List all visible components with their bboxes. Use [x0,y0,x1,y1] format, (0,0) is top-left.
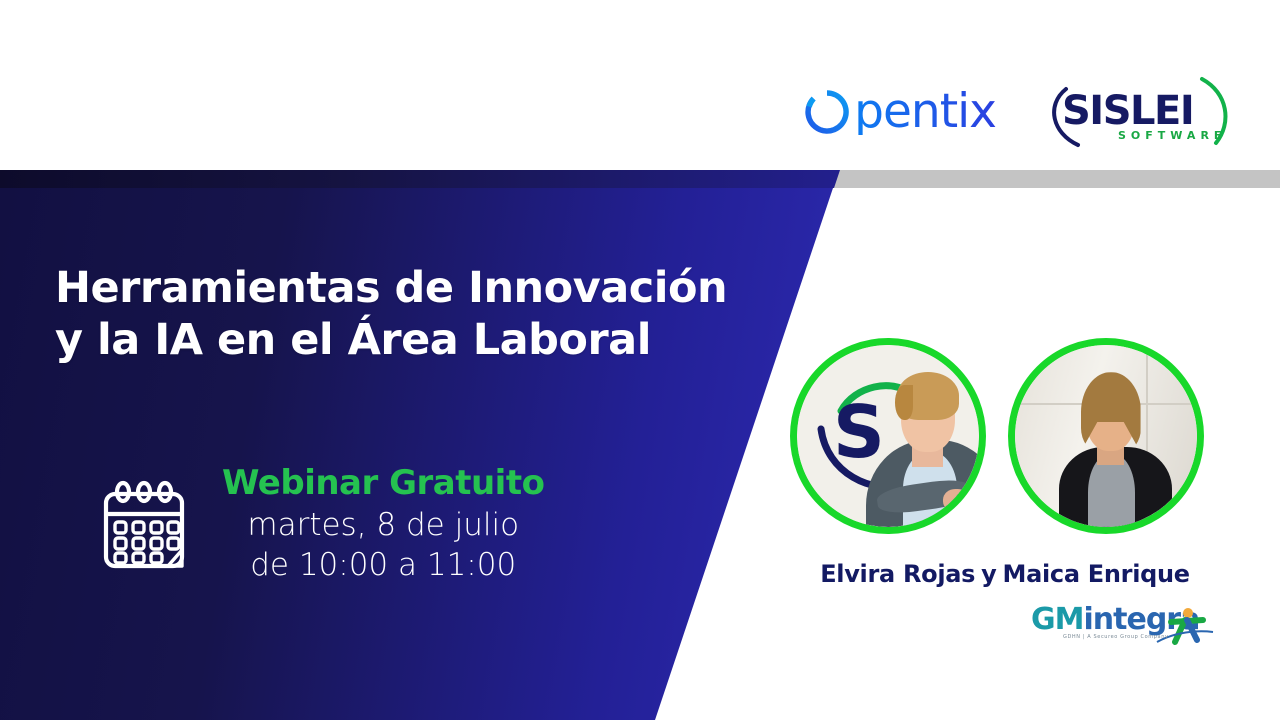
top-accent-banner [0,0,900,53]
opentix-circle-icon [804,89,850,135]
logo-row: pentix SISLEI SOFTWARE [804,53,1240,170]
divider-navy-band [0,170,860,188]
opentix-wordmark: pentix [854,88,996,135]
speaker-name-1: Elvira Rojas [820,560,975,588]
calendar-icon [100,480,188,577]
speaker-avatars: S [790,338,1204,534]
avatar-elvira-rojas: S [790,338,986,534]
page-title: Herramientas de Innovación y la IA en el… [55,262,795,367]
speaker-name-2: Maica Enrique [1003,560,1190,588]
event-time: de 10:00 a 11:00 [222,545,544,585]
gmintegra-gm-text: GM [1031,602,1083,637]
speaker-name-conjunction: y [975,560,1002,588]
opentix-logo: pentix [804,88,996,135]
sislei-logo: SISLEI SOFTWARE [1030,67,1240,157]
event-date: martes, 8 de julio [222,505,544,545]
webinar-promo-slide: pentix SISLEI SOFTWARE Herramientas de I… [0,0,1280,720]
gmintegra-logo: GMintegra GDHN | A Secureo Group Company [1025,600,1215,650]
event-details: Webinar Gratuito martes, 8 de julio de 1… [100,462,544,585]
avatar-maica-enrique [1008,338,1204,534]
webinar-free-label: Webinar Gratuito [222,462,544,505]
sislei-wordmark: SISLEI [1062,88,1193,134]
event-text-block: Webinar Gratuito martes, 8 de julio de 1… [222,462,544,585]
logo-band: pentix SISLEI SOFTWARE [0,53,1280,170]
gmintegra-tagline: GDHN | A Secureo Group Company [1063,634,1169,640]
sislei-subtitle: SOFTWARE [1118,129,1226,142]
headline-line-1: Herramientas de Innovación [55,262,795,314]
svg-text:S: S [833,390,885,474]
speaker-names: Elvira RojasyMaica Enrique [780,560,1230,588]
headline-line-2: y la IA en el Área Laboral [55,314,795,366]
